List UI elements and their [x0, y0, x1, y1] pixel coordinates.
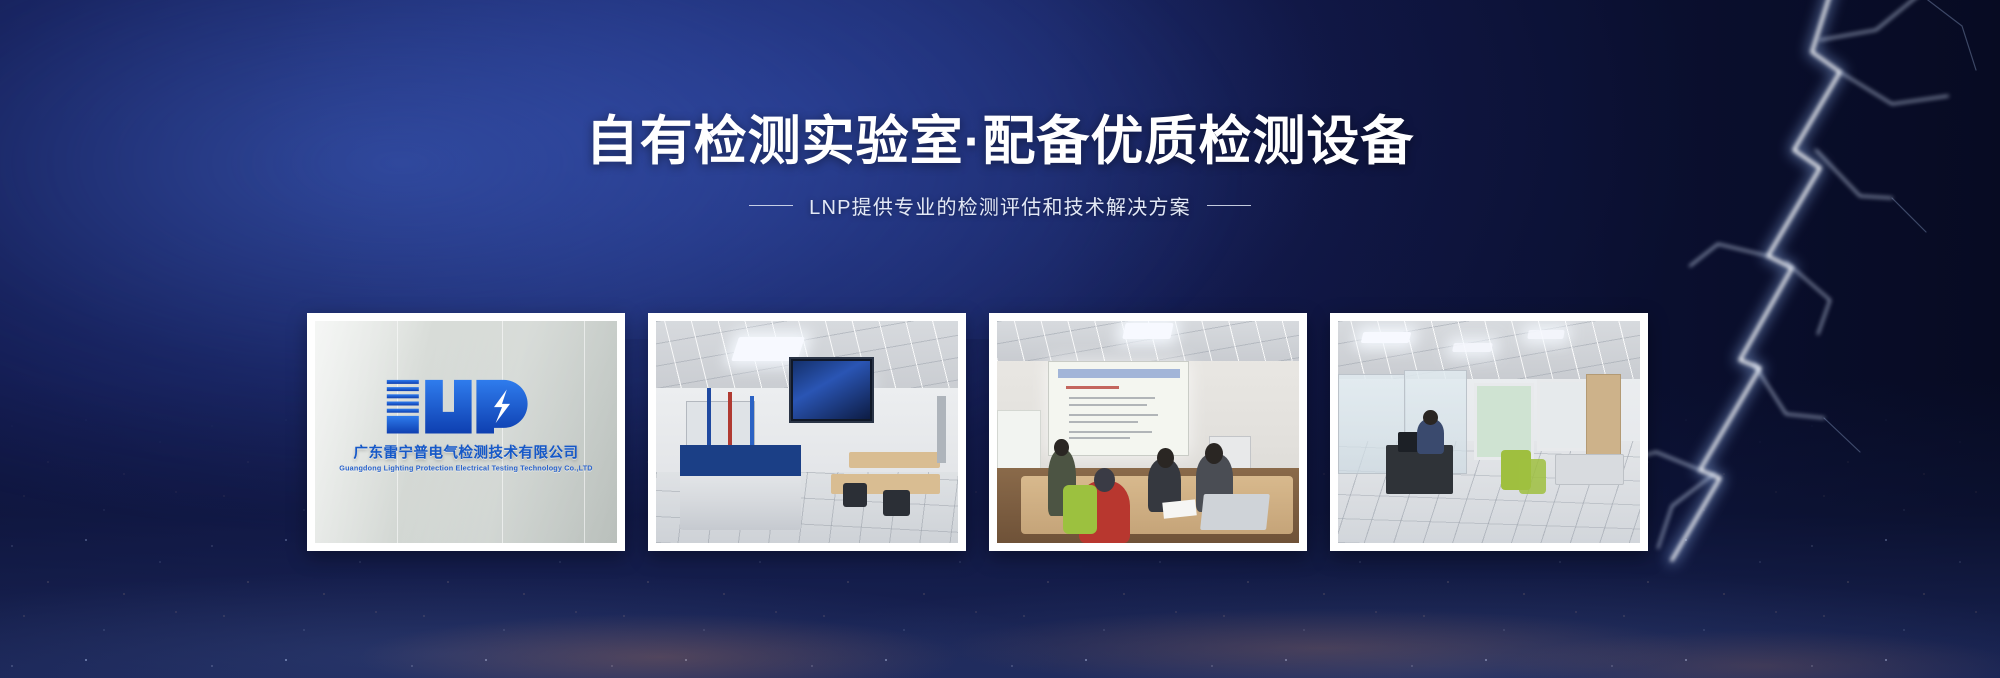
rule-right-icon [1207, 205, 1251, 206]
ceiling-light [1452, 343, 1493, 352]
person-head [1423, 410, 1438, 426]
signage-chinese-name: 广东雷宁普电气检测技术有限公司 [315, 442, 617, 463]
window [1474, 383, 1534, 460]
slide-body-text [1069, 414, 1158, 416]
paper-document [1162, 499, 1197, 518]
green-chair [1063, 485, 1096, 534]
person-head [1157, 448, 1174, 468]
slide-body-text [1069, 431, 1152, 433]
company-signage: 广东雷宁普电气检测技术有限公司 Guangdong Lighting Prote… [315, 374, 617, 473]
slide-body-text [1069, 421, 1138, 423]
gallery-card-office-area[interactable] [1330, 313, 1648, 551]
person-head [1094, 468, 1115, 492]
page-title: 自有检测实验室·配备优质检测设备 [0, 112, 2000, 171]
office-chair [843, 483, 867, 507]
ceiling-light [1361, 332, 1412, 343]
gallery-card-training-meeting-room[interactable] [989, 313, 1307, 551]
console-blue-panel [680, 445, 801, 476]
window [1537, 379, 1588, 452]
photo-lobby-logo-wall: 广东雷宁普电气检测技术有限公司 Guangdong Lighting Prote… [315, 321, 617, 543]
projector-screen [1048, 361, 1189, 456]
lnp-logo-icon [382, 374, 550, 438]
photo-training-meeting-room [997, 321, 1299, 543]
wall-column [937, 396, 946, 463]
monitor-screen [793, 361, 871, 419]
hero-copy: 自有检测实验室·配备优质检测设备 LNP提供专业的检测评估和技术解决方案 [0, 112, 2000, 220]
photo-office-area [1338, 321, 1640, 543]
slide-body-text [1069, 397, 1155, 399]
gallery-card-lobby-logo-wall[interactable]: 广东雷宁普电气检测技术有限公司 Guangdong Lighting Prote… [307, 313, 625, 551]
work-desk [849, 452, 940, 468]
photo-gallery: 广东雷宁普电气检测技术有限公司 Guangdong Lighting Prote… [307, 313, 1648, 551]
slide-title-text [1066, 386, 1119, 389]
signage-english-name: Guangdong Lighting Protection Electrical… [315, 464, 617, 473]
slide-body-text [1069, 437, 1130, 439]
ceiling-light [1122, 323, 1174, 339]
ceiling-light [1527, 330, 1565, 339]
slide-body-text [1069, 404, 1147, 406]
green-chair [1519, 459, 1546, 495]
hero-subtitle: LNP提供专业的检测评估和技术解决方案 [809, 191, 1191, 220]
laptop [1201, 494, 1271, 530]
test-rod [707, 388, 711, 455]
test-rod [750, 396, 754, 449]
slide-header [1058, 369, 1180, 377]
hero-banner: 自有检测实验室·配备优质检测设备 LNP提供专业的检测评估和技术解决方案 [0, 0, 2000, 678]
rule-left-icon [749, 205, 793, 206]
wall-monitor [789, 357, 875, 423]
hero-subtitle-row: LNP提供专业的检测评估和技术解决方案 [0, 191, 2000, 220]
reception-counter [1555, 454, 1623, 485]
door [1586, 374, 1621, 465]
photo-testing-laboratory [656, 321, 958, 543]
gallery-card-testing-laboratory[interactable] [648, 313, 966, 551]
office-chair [883, 490, 910, 517]
